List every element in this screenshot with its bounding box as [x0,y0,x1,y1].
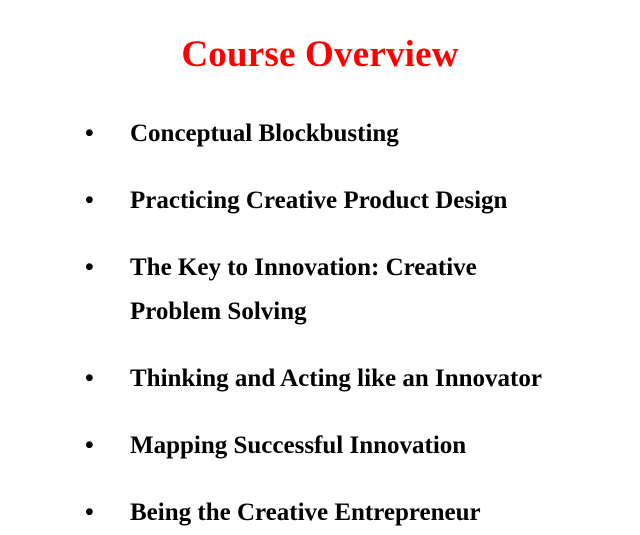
list-item-label: The Key to Innovation: Creative Problem … [130,246,628,334]
list-item-label: Being the Creative Entrepreneur [130,491,628,535]
list-item: • Being the Creative Entrepreneur [80,491,628,535]
bullet-point-icon: • [85,179,99,223]
list-item-label: Practicing Creative Product Design [130,179,628,223]
bullet-point-icon: • [85,112,99,156]
bullet-point-icon: • [85,246,99,290]
bullet-point-icon: • [85,357,99,401]
list-item: • Thinking and Acting like an Innovator [80,357,628,401]
presentation-slide: Course Overview • Conceptual Blockbustin… [0,0,640,480]
list-item-label: Conceptual Blockbusting [130,112,628,156]
list-item: • Practicing Creative Product Design [80,179,628,223]
list-item-label: Thinking and Acting like an Innovator [130,357,628,401]
list-item-label: Mapping Successful Innovation [130,424,628,468]
list-item: • The Key to Innovation: Creative Proble… [80,246,628,334]
list-item: • Mapping Successful Innovation [80,424,628,468]
list-item: • Conceptual Blockbusting [80,112,628,156]
page-title: Course Overview [0,33,640,77]
bullet-list: • Conceptual Blockbusting • Practicing C… [80,112,628,535]
bullet-point-icon: • [85,491,99,535]
bullet-point-icon: • [85,424,99,468]
